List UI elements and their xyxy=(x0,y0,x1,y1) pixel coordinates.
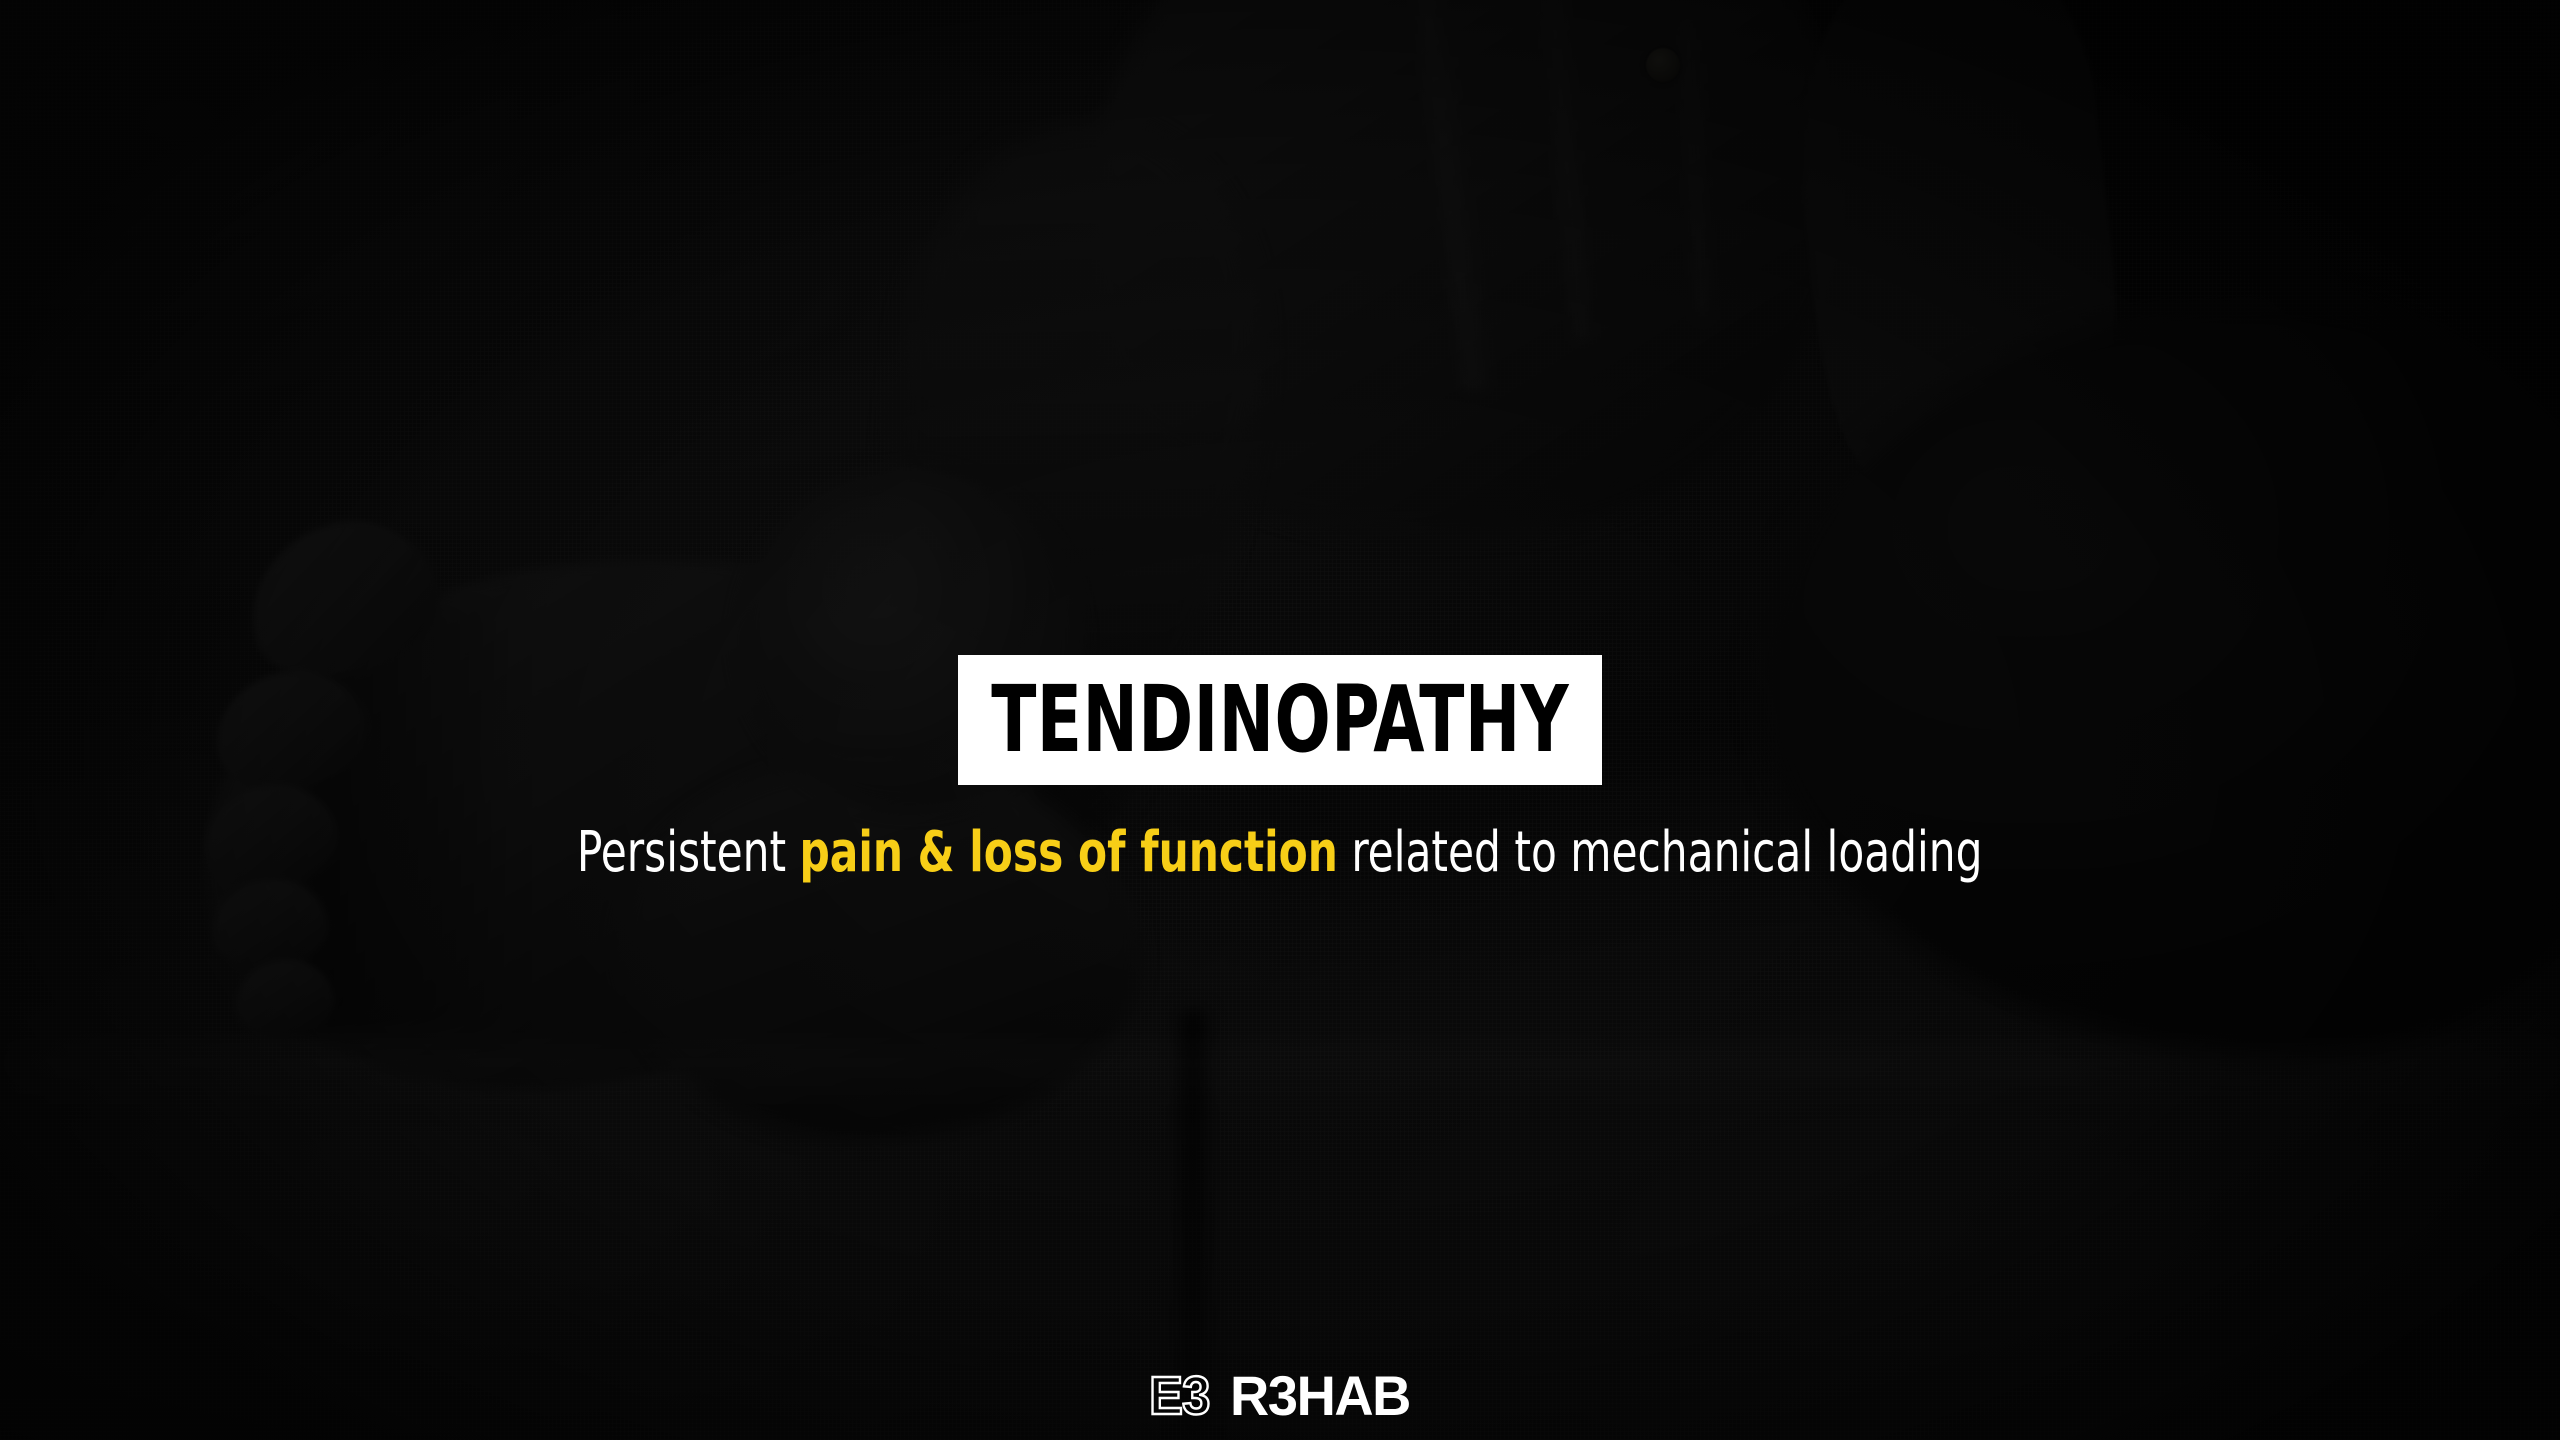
page-title: TENDINOPATHY xyxy=(991,674,1569,766)
slide-root: TENDINOPATHY Persistent pain & loss of f… xyxy=(0,0,2560,1440)
subtitle-highlight: pain & loss of function xyxy=(800,820,1338,885)
subtitle-inner: Persistent pain & loss of function relat… xyxy=(577,820,1983,886)
e3-mark-icon: E3 xyxy=(1149,1369,1209,1423)
brand-name: R3HAB xyxy=(1230,1368,1410,1424)
subtitle-lead: Persistent xyxy=(577,820,800,885)
subtitle-trail: related to mechanical loading xyxy=(1338,820,1983,885)
slide-content: TENDINOPATHY Persistent pain & loss of f… xyxy=(0,0,2560,1440)
title-banner: TENDINOPATHY xyxy=(958,655,1602,785)
brand-logo: E3 R3HAB xyxy=(1147,1368,1412,1424)
subtitle: Persistent pain & loss of function relat… xyxy=(280,820,2280,886)
